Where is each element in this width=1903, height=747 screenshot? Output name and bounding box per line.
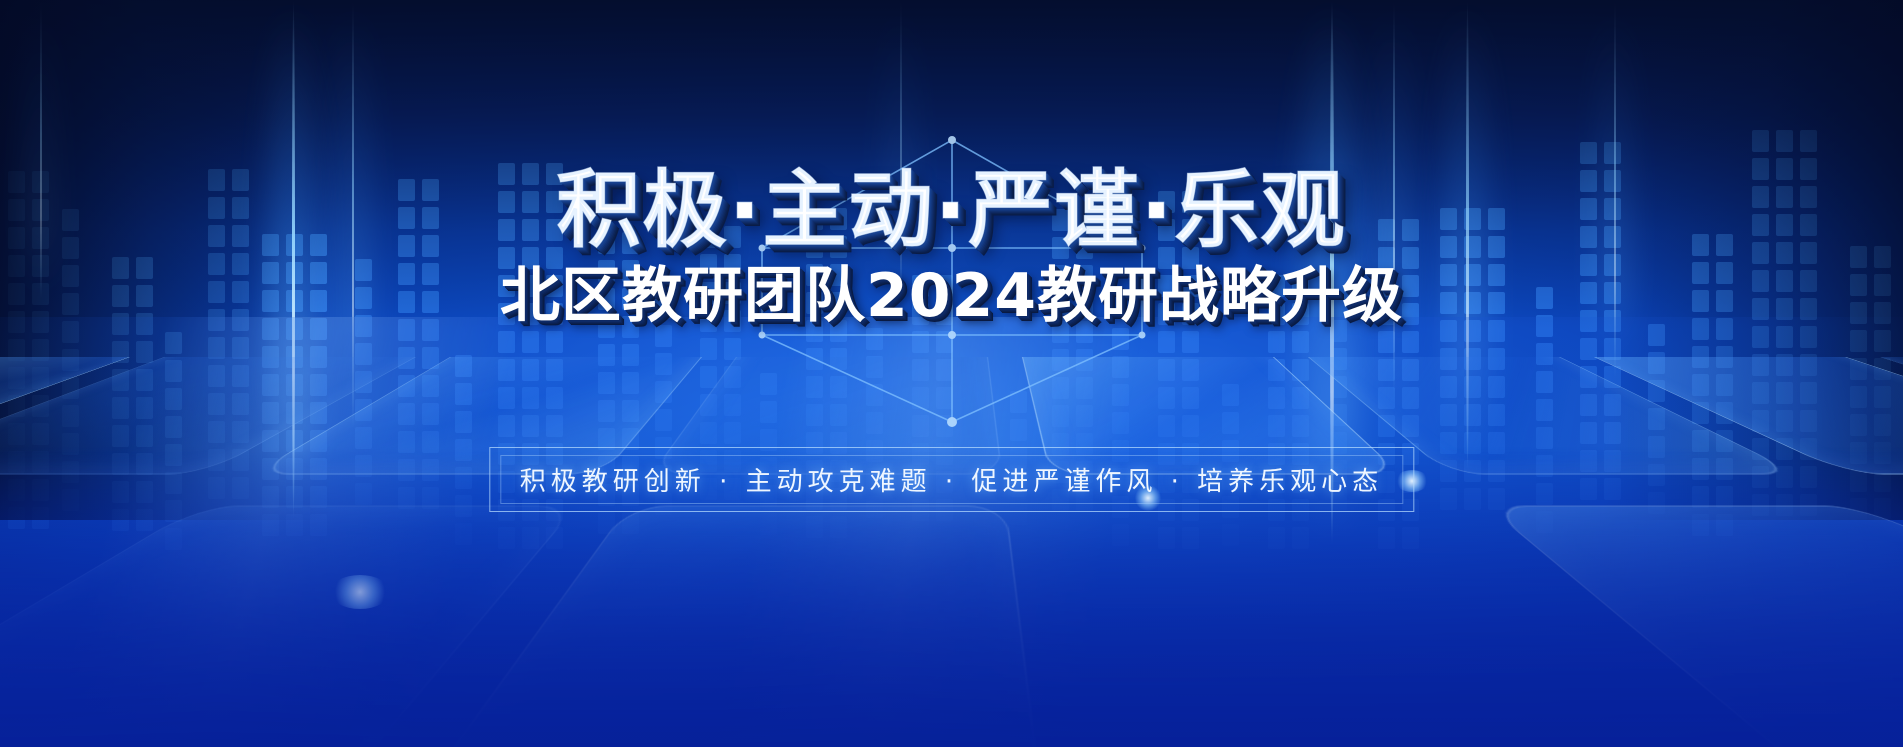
- banner-main-title: 积极·主动·严谨·乐观: [557, 168, 1347, 252]
- banner-content: 积极·主动·严谨·乐观 北区教研团队2024教研战略升级 积极教研创新 · 主动…: [0, 0, 1903, 747]
- tagline-box: 积极教研创新 · 主动攻克难题 · 促进严谨作风 · 培养乐观心态: [489, 447, 1414, 512]
- tagline-text: 积极教研创新 · 主动攻克难题 · 促进严谨作风 · 培养乐观心态: [520, 467, 1383, 497]
- banner-subtitle: 北区教研团队2024教研战略升级: [500, 266, 1403, 326]
- title-block: 积极·主动·严谨·乐观 北区教研团队2024教研战略升级: [0, 168, 1903, 326]
- banner-stage: 积极·主动·严谨·乐观 北区教研团队2024教研战略升级 积极教研创新 · 主动…: [0, 0, 1903, 747]
